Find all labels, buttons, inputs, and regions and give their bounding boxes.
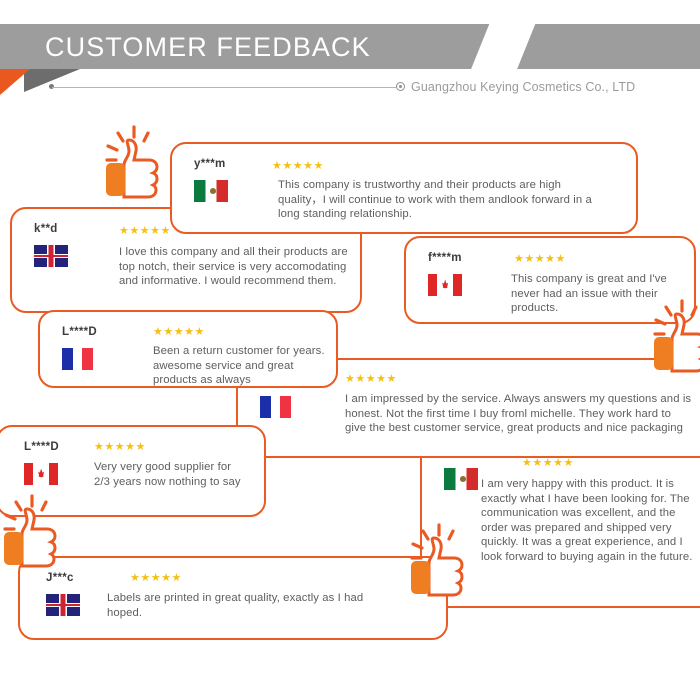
star-rating: ★★★★★ [345,373,397,385]
review-text: Been a return customer for years. awesom… [153,344,331,388]
star-rating: ★★★★★ [522,457,574,469]
review-text: This company is trustworthy and their pr… [278,178,608,222]
reviewer-identity: J***c [46,572,116,616]
review-text: I am very happy with this product. It is… [481,477,699,565]
reviewer-name: y***m [194,158,264,170]
page-title: CUSTOMER FEEDBACK [45,30,371,64]
thumbs-up-icon [0,493,72,571]
review-card[interactable]: J***c ★★★★★ Labels are printed in great … [18,556,448,640]
review-card[interactable]: y***m ★★★★★ This company is trustworthy … [170,142,638,234]
star-rating: ★★★★★ [94,441,146,453]
reviewer-name: f****m [428,252,498,264]
canada-flag [24,463,58,485]
reviewer-identity: f****m [428,252,498,296]
review-text: Labels are printed in great quality, exa… [107,591,397,620]
reviewer-identity: L****D [24,441,94,485]
canada-flag [428,274,462,296]
thumbs-up-icon [100,124,174,202]
star-rating: ★★★★★ [514,253,566,265]
header-rule [52,87,396,88]
circle-dot-icon [396,82,405,91]
reviewer-name: L****D [24,441,94,453]
thumbs-up-icon [405,522,479,600]
reviewer-name: k**d [34,223,104,235]
review-text: I love this company and all their produc… [119,245,349,289]
france-flag [260,396,300,418]
reviewer-name: J***c [46,572,116,584]
reviewer-identity: y***m [194,158,264,202]
review-text: Very very good supplier for 2/3 years no… [94,460,246,489]
united-kingdom-flag [34,245,68,267]
mexico-flag [194,180,228,202]
reviewer-name: L****D [62,326,132,338]
company-name: Guangzhou Keying Cosmetics Co., LTD [411,80,635,94]
reviewer-identity: k**d [34,223,104,267]
header-orange-triangle [0,69,30,95]
mexico-flag [444,468,478,490]
france-flag [62,348,102,370]
united-kingdom-flag [46,594,80,616]
review-card[interactable]: L****D ★★★★★ Been a return customer for … [38,310,338,388]
page-header: CUSTOMER FEEDBACK Guangzhou Keying Cosme… [0,0,700,112]
star-rating: ★★★★★ [119,225,171,237]
review-text: I am impressed by the service. Always an… [345,392,695,436]
star-rating: ★★★★★ [272,160,324,172]
reviewer-identity: L****D [62,326,132,370]
thumbs-up-icon [648,298,700,376]
star-rating: ★★★★★ [130,572,182,584]
star-rating: ★★★★★ [153,326,205,338]
